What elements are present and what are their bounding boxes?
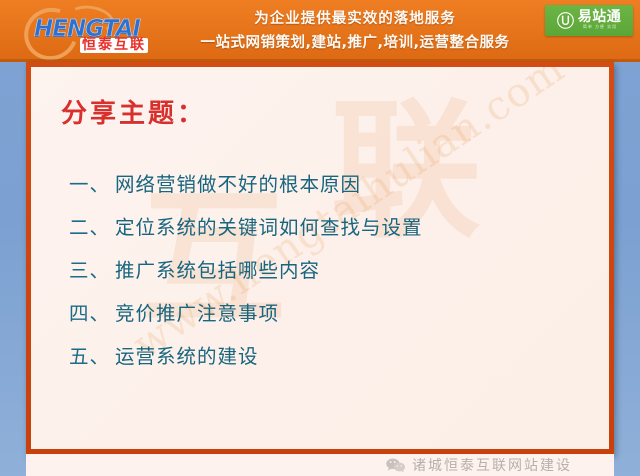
list-item: 三、 推广系统包括哪些内容 [69,249,589,292]
topic-list: 一、 网络营销做不好的根本原因 二、 定位系统的关键词如何查找与设置 三、 推广… [69,163,589,378]
topic-label: 运营系统的建设 [115,335,259,378]
wechat-icon [385,457,406,473]
topic-number: 三、 [69,249,115,292]
slide-card-body: 联 互 www.hengtaihulian.com 分享主题： 一、 网络营销做… [31,67,609,449]
list-item: 四、 竞价推广注意事项 [69,292,589,335]
badge-title: 易站通 [578,10,622,24]
list-item: 五、 运营系统的建设 [69,335,589,378]
header-slogan-group: 为企业提供最实效的落地服务 一站式网销策划,建站,推广,培训,运营整合服务 [175,8,535,55]
topic-label: 网络营销做不好的根本原因 [115,163,361,206]
slide-card-frame: 联 互 www.hengtaihulian.com 分享主题： 一、 网络营销做… [26,62,614,454]
list-item: 一、 网络营销做不好的根本原因 [69,163,589,206]
header-slogan-line-2: 一站式网销策划,建站,推广,培训,运营整合服务 [175,31,535,55]
slide-root: HENGTAI 恒泰互联 为企业提供最实效的落地服务 一站式网销策划,建站,推广… [0,0,640,476]
topic-number: 五、 [69,335,115,378]
badge-subtitle: 简单 方便 实用 [582,26,616,30]
badge-text-group: 易站通 简单 方便 实用 [578,10,622,31]
topic-number: 二、 [69,206,115,249]
header-slogan-line-1: 为企业提供最实效的落地服务 [175,8,535,31]
header-band: HENGTAI 恒泰互联 为企业提供最实效的落地服务 一站式网销策划,建站,推广… [0,0,640,62]
slide-title: 分享主题： [61,93,206,130]
topic-label: 推广系统包括哪些内容 [115,249,320,292]
topic-number: 四、 [69,292,115,335]
topic-label: 定位系统的关键词如何查找与设置 [115,206,423,249]
brand-logo: HENGTAI 恒泰互联 [22,6,172,56]
topic-label: 竞价推广注意事项 [115,292,279,335]
list-item: 二、 定位系统的关键词如何查找与设置 [69,206,589,249]
topic-number: 一、 [69,163,115,206]
yizhantong-badge[interactable]: 易站通 简单 方便 实用 [545,5,633,36]
footer-bar: 诸城恒泰互联网站建设 [26,454,614,476]
footer-account-name: 诸城恒泰互联网站建设 [412,455,572,475]
yizhantong-u-logo-icon [557,12,574,29]
logo-chinese-text: 恒泰互联 [80,38,148,53]
